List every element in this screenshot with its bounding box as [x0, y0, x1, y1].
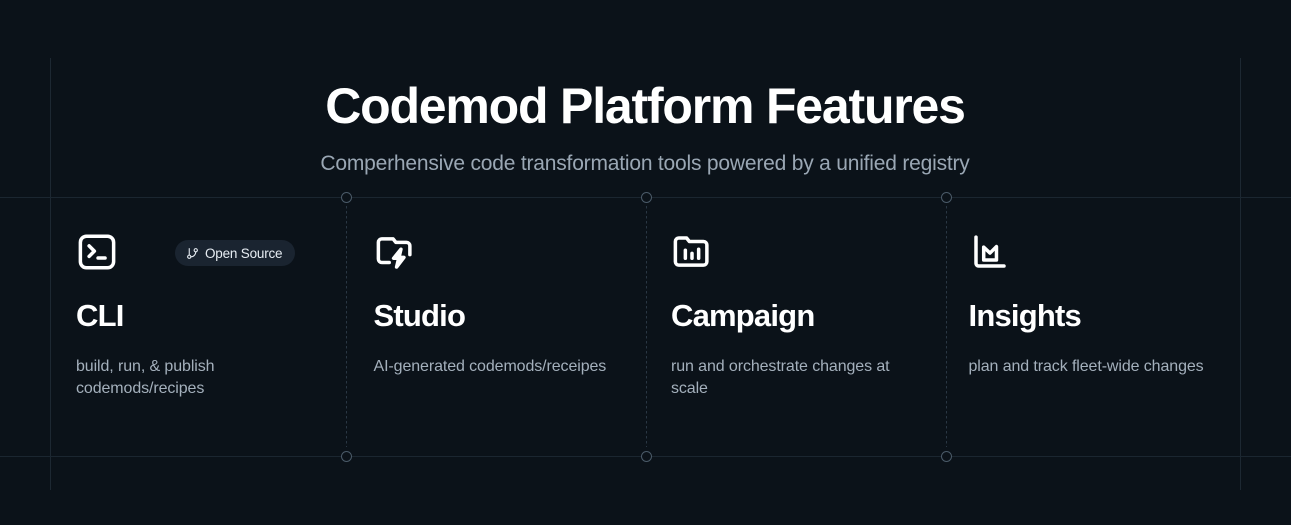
- folder-bolt-icon: [374, 231, 416, 273]
- feature-card-campaign[interactable]: Campaign run and orchestrate changes at …: [645, 198, 943, 456]
- feature-card-cli[interactable]: Open Source CLI build, run, & publish co…: [50, 198, 348, 456]
- card-header-insights: [969, 231, 1215, 279]
- grid-horizontal-rule-bottom: [0, 456, 1291, 457]
- card-description-insights: plan and track fleet-wide changes: [969, 356, 1215, 378]
- feature-card-insights[interactable]: Insights plan and track fleet-wide chang…: [943, 198, 1241, 456]
- terminal-icon: [76, 231, 118, 273]
- open-source-badge-label: Open Source: [205, 246, 282, 261]
- card-description-cli: build, run, & publish codemods/recipes: [76, 356, 322, 400]
- feature-card-studio[interactable]: Studio AI-generated codemods/receipes: [348, 198, 646, 456]
- card-title-insights: Insights: [969, 300, 1215, 331]
- card-description-campaign: run and orchestrate changes at scale: [671, 356, 917, 400]
- folder-bars-icon: [671, 231, 713, 273]
- feature-card-list: Open Source CLI build, run, & publish co…: [50, 198, 1240, 456]
- card-description-studio: AI-generated codemods/receipes: [374, 356, 620, 378]
- features-section: Codemod Platform Features Comperhensive …: [0, 0, 1291, 525]
- page-subtitle: Comperhensive code transformation tools …: [320, 153, 969, 174]
- card-header-campaign: [671, 231, 917, 279]
- card-header-studio: [374, 231, 620, 279]
- card-header-cli: Open Source: [76, 231, 322, 279]
- page-title: Codemod Platform Features: [325, 81, 965, 131]
- area-chart-icon: [969, 231, 1011, 273]
- section-header: Codemod Platform Features Comperhensive …: [50, 58, 1240, 197]
- card-title-campaign: Campaign: [671, 300, 917, 331]
- grid-vertical-edge-right: [1240, 58, 1241, 490]
- open-source-badge[interactable]: Open Source: [175, 240, 295, 266]
- card-title-studio: Studio: [374, 300, 620, 331]
- git-branch-icon: [186, 247, 199, 260]
- card-title-cli: CLI: [76, 300, 322, 331]
